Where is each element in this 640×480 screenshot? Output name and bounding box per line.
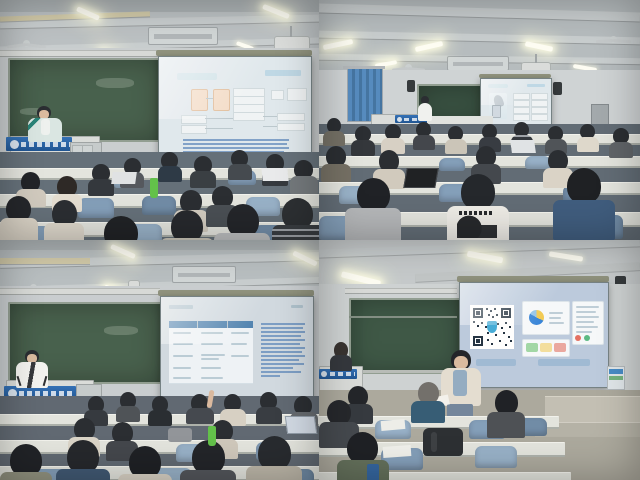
university-seal (10, 140, 19, 149)
hoodie-text (459, 211, 493, 215)
presenter (26, 106, 66, 142)
raised-arm (206, 390, 214, 409)
audience-member-foreground (118, 446, 172, 480)
audience-member-foreground (337, 432, 389, 480)
screen-glare (481, 79, 551, 105)
backpack-strap (431, 432, 437, 452)
hoodie-graphic (457, 214, 497, 238)
slide-connector (205, 128, 233, 129)
bag (168, 428, 192, 442)
audience-torso (118, 474, 172, 480)
audience-hoodie (214, 233, 270, 240)
notebook (381, 419, 406, 431)
table-cell-text (201, 377, 223, 379)
photo-bottom-right-content (319, 240, 640, 480)
table-line (576, 331, 592, 333)
audience-torso (351, 140, 375, 156)
presenter-inner-shirt (453, 370, 467, 396)
audience-member-foreground (214, 204, 270, 240)
caption-right (538, 359, 590, 366)
audience-member (577, 124, 599, 150)
audience-member (411, 382, 445, 422)
audience-member-foreground (447, 174, 509, 240)
audience-member (256, 392, 282, 422)
audience-member-foreground (56, 440, 110, 480)
audience-member-foreground (92, 216, 150, 240)
audience-torso (337, 460, 389, 480)
audience-torso (246, 466, 302, 480)
wall-speaker (407, 80, 415, 92)
curtain-rail (343, 66, 385, 69)
ceiling-fan-2 (595, 36, 631, 46)
slide-grid-cell (531, 107, 548, 114)
laptop (111, 172, 137, 184)
host-torso (330, 355, 352, 371)
audience-member (323, 118, 345, 144)
wall-rail (0, 288, 160, 295)
water-bottle (150, 178, 158, 198)
slide-phone-graphic (492, 105, 501, 118)
poster-band-2 (609, 376, 623, 380)
audience-member-foreground (180, 440, 236, 480)
genanx-hoodie (447, 206, 509, 240)
audience-torso (413, 135, 435, 150)
screen-glare (161, 297, 313, 344)
audience-member (116, 392, 140, 420)
audience-torso (180, 470, 236, 480)
presenter-shirt (41, 119, 50, 135)
ac-vent (178, 273, 230, 277)
screen-glare (460, 283, 608, 325)
audience-torso (609, 142, 633, 158)
photo-bottom-left-content (0, 240, 319, 480)
projector-screen (160, 296, 314, 402)
poster-band (609, 369, 623, 374)
audience-torso (116, 406, 140, 422)
table-row (169, 350, 253, 364)
laptop (261, 168, 288, 181)
projector-mount (290, 26, 292, 37)
air-conditioner (148, 27, 218, 45)
audience-member (228, 150, 252, 178)
water-bottle (208, 426, 216, 446)
audience-head (567, 168, 601, 204)
audience-member (609, 128, 633, 156)
seat (439, 158, 465, 171)
audience-member (321, 146, 351, 180)
table-cell-text (231, 355, 249, 357)
audience-torso (577, 137, 599, 152)
audience-member (0, 196, 38, 240)
slide-grid-cell (277, 123, 305, 131)
audience-member (148, 396, 172, 424)
photo-top-left[interactable] (0, 0, 319, 240)
audience-member (351, 126, 375, 154)
projector-mount (535, 54, 537, 63)
photo-bottom-right[interactable] (319, 240, 640, 480)
laptop (403, 168, 439, 188)
audience-member (158, 152, 182, 180)
chip-yellow (540, 343, 552, 352)
wall-rail (345, 288, 457, 294)
air-conditioner (172, 266, 236, 283)
audience-member-foreground (272, 198, 319, 240)
standing-presenter (439, 350, 483, 426)
table-cell-text (173, 355, 193, 357)
audience-torso (228, 164, 252, 180)
chalk-smudge (96, 78, 134, 88)
audience-torso (158, 166, 182, 182)
audience-member-hand-raised (186, 390, 214, 422)
audience-torso (445, 139, 467, 154)
chips-panel (522, 339, 570, 357)
audience-torso (0, 218, 38, 240)
audience-torso (148, 410, 172, 426)
ac-vent (154, 34, 211, 38)
phone (367, 464, 379, 480)
audience-torso (88, 179, 114, 196)
table-cell-text (201, 367, 221, 369)
slide-grid-cell (513, 114, 530, 121)
audience-member (413, 122, 435, 148)
audience-member (445, 126, 467, 152)
laptop (510, 140, 536, 153)
photo-bottom-left[interactable] (0, 240, 319, 480)
photo-top-right[interactable] (319, 0, 640, 240)
wall-rail (0, 50, 160, 57)
seated-host (329, 342, 353, 370)
audience-member (545, 126, 567, 152)
audience-member-foreground (0, 444, 52, 480)
audience-hoodie (345, 208, 401, 240)
wall-speaker-2 (553, 82, 562, 95)
audience-member (290, 160, 318, 192)
audience-plaid-shirt (272, 225, 319, 240)
table-line (576, 326, 598, 328)
projector-screen (158, 56, 312, 162)
audience-torso (487, 412, 525, 438)
table-cell-text (201, 358, 219, 360)
university-seal (321, 371, 327, 377)
table-accent-marker (575, 335, 581, 341)
audience-head (357, 178, 390, 212)
ceiling-panel (0, 240, 319, 250)
notebook-2 (383, 445, 412, 458)
audience-member (44, 200, 84, 240)
audience-member-foreground (246, 436, 302, 480)
slide-grid-cell (531, 114, 548, 121)
audience-member (190, 156, 216, 186)
table-accent-marker-2 (584, 335, 590, 341)
audience-head (461, 174, 495, 210)
audience-head (171, 210, 203, 240)
presenter (417, 96, 433, 122)
university-seal (397, 117, 402, 122)
audience-member-foreground (345, 178, 401, 240)
ac-vent (453, 62, 503, 65)
audience-torso (44, 223, 84, 240)
audience-member (381, 124, 405, 152)
screen-glare (159, 57, 311, 119)
photo-top-left-content (0, 0, 319, 240)
table-cell-text (173, 367, 191, 369)
chip-green (526, 343, 538, 352)
audience-head (104, 216, 138, 240)
seat (475, 446, 517, 468)
audience-torso (56, 469, 110, 480)
audience-member-foreground (553, 168, 615, 240)
chalk-smudge (104, 326, 138, 335)
air-conditioner (447, 56, 509, 71)
slide-grid-cell (181, 125, 207, 134)
audience-torso (411, 401, 445, 423)
table-cell-text (173, 377, 191, 379)
table-cell-text (201, 354, 225, 356)
photo-top-right-content (319, 0, 640, 240)
backpack (423, 428, 463, 456)
audience-torso (256, 407, 282, 424)
audience-member (88, 164, 114, 194)
audience-member-foreground (160, 210, 214, 240)
banner-text (330, 372, 355, 376)
chip-red (554, 343, 566, 352)
presenter-shirt (418, 103, 432, 121)
board-divider (349, 316, 457, 318)
audience-torso (0, 472, 52, 480)
wall-poster (607, 366, 625, 390)
audience-torso (553, 200, 615, 240)
slide-grid-cell (513, 107, 530, 114)
slide-connector (263, 126, 277, 127)
laptop (285, 416, 318, 434)
photo-collage (0, 0, 640, 480)
audience-member (487, 390, 525, 436)
audience-torso (323, 131, 345, 146)
audience-torso (290, 176, 318, 194)
banner-text (21, 142, 70, 147)
duct-pipe (0, 258, 90, 264)
